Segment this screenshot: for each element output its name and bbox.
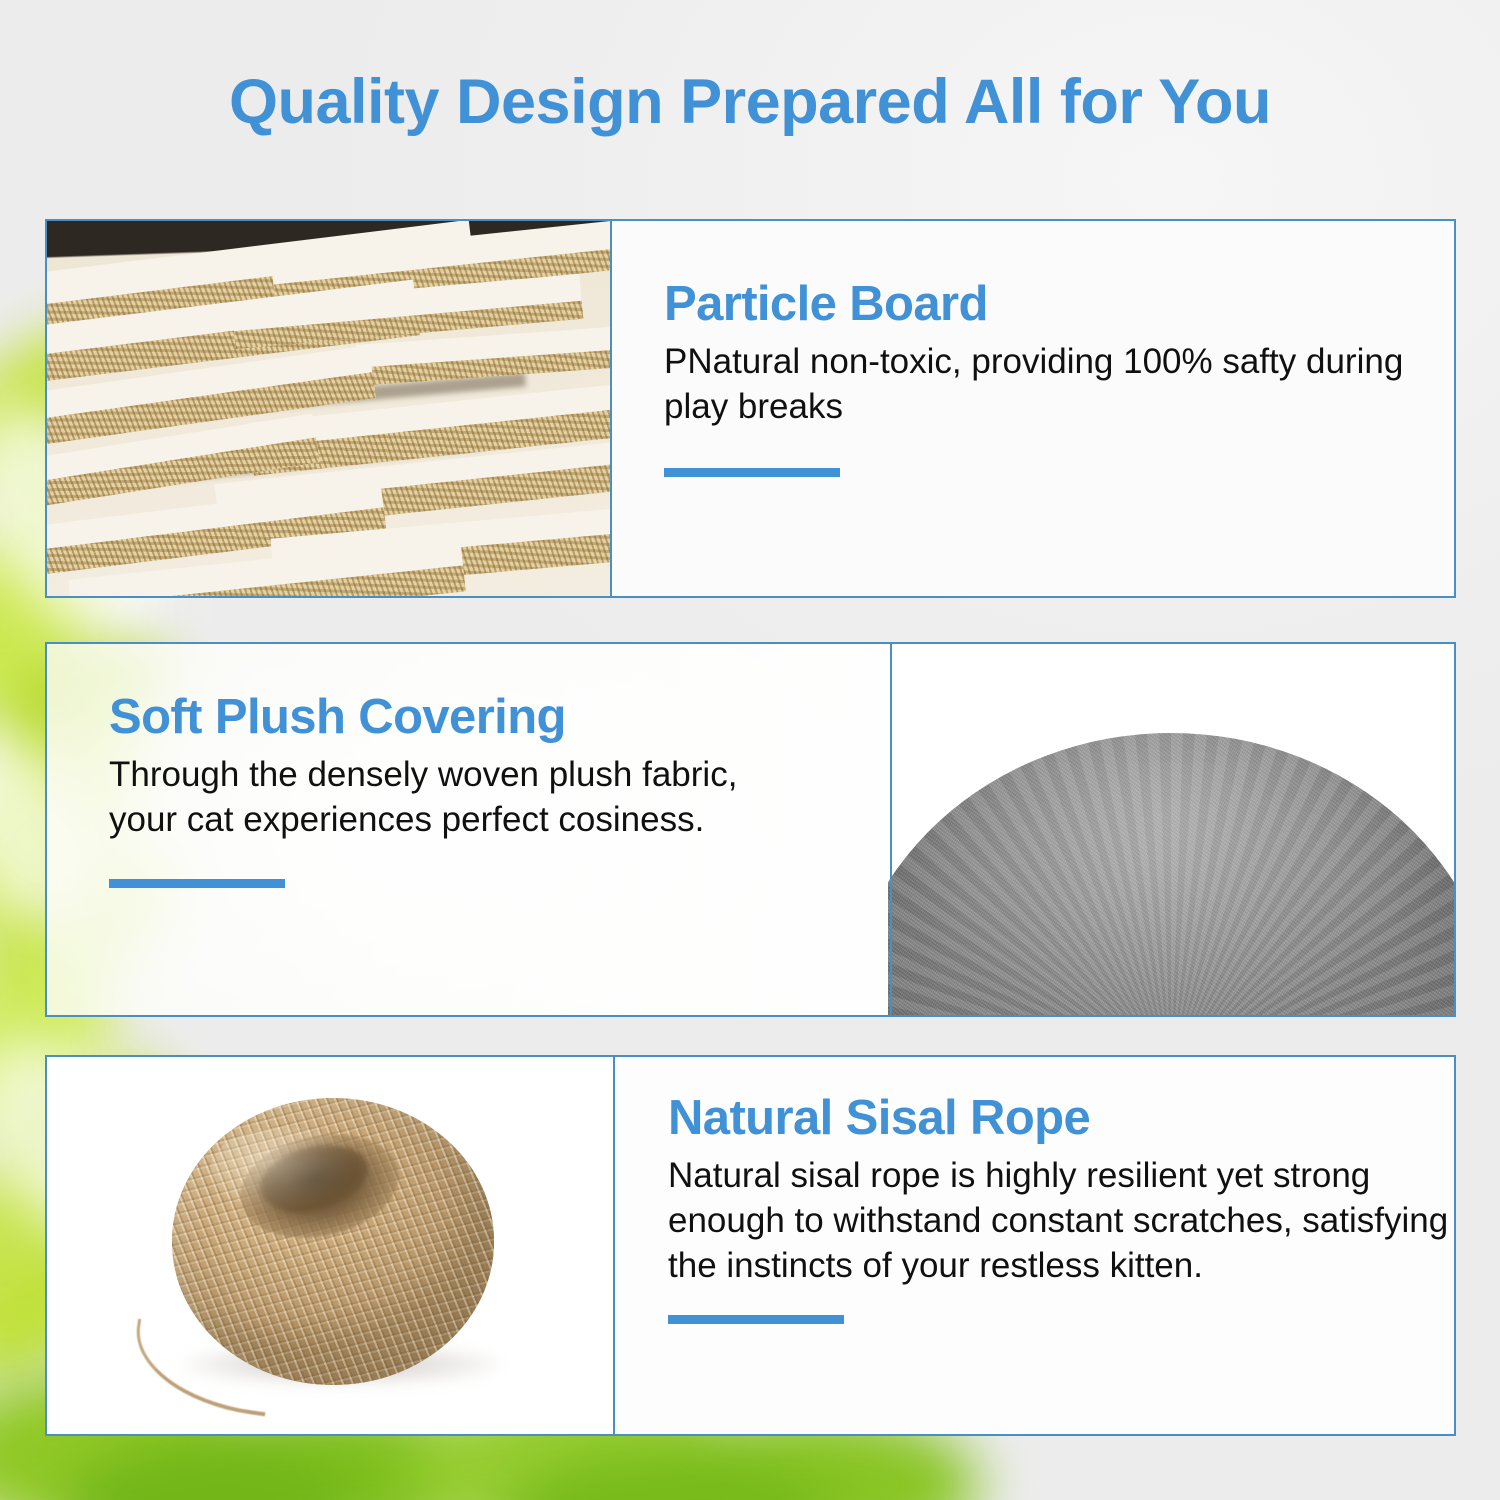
feature-card-natural-sisal-rope: Natural Sisal Rope Natural sisal rope is… <box>45 1055 1456 1436</box>
page-title: Quality Design Prepared All for You <box>0 66 1500 138</box>
card-body: PNatural non-toxic, providing 100% safty… <box>664 340 1404 430</box>
card-divider <box>610 221 612 596</box>
sisal-rope-text-panel: Natural Sisal Rope Natural sisal rope is… <box>613 1057 1454 1434</box>
plush-fabric-image <box>888 644 1454 1015</box>
card-body: Natural sisal rope is highly resilient y… <box>668 1154 1454 1288</box>
card-body: Through the densely woven plush fabric, … <box>109 753 809 843</box>
sisal-rope-image <box>47 1057 613 1434</box>
particle-board-text-panel: Particle Board PNatural non-toxic, provi… <box>610 221 1454 596</box>
accent-bar <box>664 468 840 477</box>
particle-board-image <box>47 221 610 596</box>
infographic-canvas: Quality Design Prepared All for You <box>0 0 1500 1500</box>
plush-text-panel: Soft Plush Covering Through the densely … <box>47 644 888 1015</box>
accent-bar <box>668 1315 844 1324</box>
card-heading: Soft Plush Covering <box>109 692 888 743</box>
card-heading: Natural Sisal Rope <box>668 1093 1454 1144</box>
feature-card-soft-plush-covering: Soft Plush Covering Through the densely … <box>45 642 1456 1017</box>
accent-bar <box>109 879 285 888</box>
feature-card-particle-board: Particle Board PNatural non-toxic, provi… <box>45 219 1456 598</box>
card-divider <box>890 644 892 1015</box>
card-heading: Particle Board <box>664 279 1454 330</box>
card-divider <box>613 1057 615 1434</box>
